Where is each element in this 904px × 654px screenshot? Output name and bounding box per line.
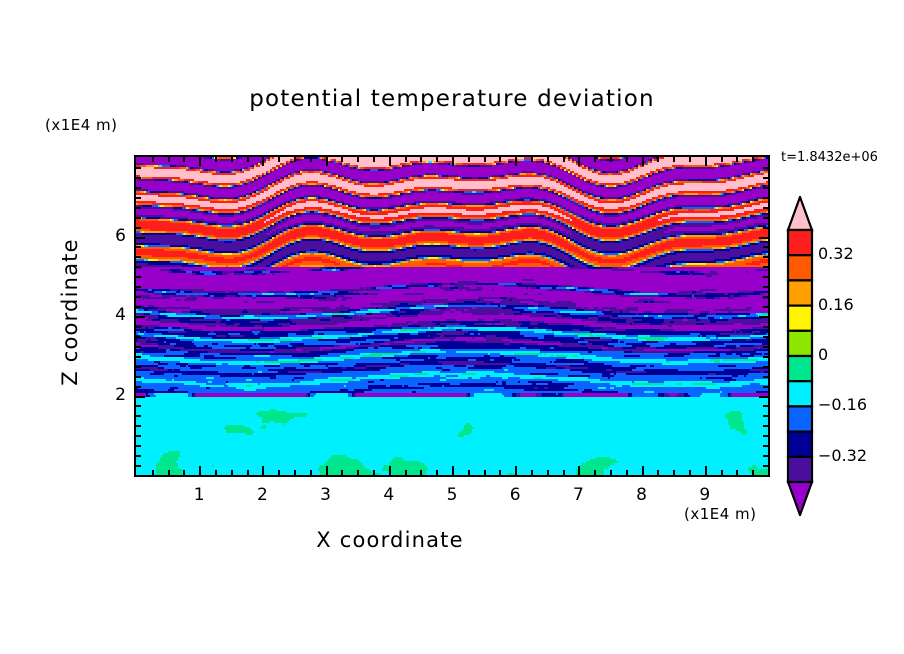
axis-tick <box>136 356 141 358</box>
axis-tick <box>341 470 343 475</box>
axis-tick <box>278 157 280 162</box>
axis-tick <box>294 470 296 475</box>
axis-tick <box>136 237 145 239</box>
axis-tick <box>278 470 280 475</box>
axis-tick <box>763 435 768 437</box>
axis-tick <box>136 286 141 288</box>
y-axis-title: Z coordinate <box>58 202 82 422</box>
axis-tick <box>759 316 768 318</box>
axis-tick <box>199 157 201 166</box>
axis-tick <box>689 470 691 475</box>
axis-tick <box>531 157 533 162</box>
axis-tick <box>763 197 768 199</box>
axis-tick <box>136 177 141 179</box>
axis-tick <box>626 470 628 475</box>
axis-tick <box>199 466 201 475</box>
axis-tick <box>452 466 454 475</box>
axis-tick <box>763 266 768 268</box>
axis-tick <box>420 470 422 475</box>
axis-tick <box>389 157 391 166</box>
axis-tick <box>763 217 768 219</box>
axis-tick <box>436 157 438 162</box>
axis-tick <box>326 466 328 475</box>
axis-tick <box>763 336 768 338</box>
axis-tick <box>642 466 644 475</box>
axis-tick <box>247 157 249 162</box>
axis-tick <box>763 356 768 358</box>
figure-root: potential temperature deviation (x1E4 m)… <box>0 0 904 654</box>
axis-tick <box>310 157 312 162</box>
axis-tick <box>136 455 141 457</box>
axis-tick <box>452 157 454 166</box>
axis-tick <box>763 376 768 378</box>
axis-tick <box>763 455 768 457</box>
axis-tick <box>689 157 691 162</box>
axis-tick <box>389 466 391 475</box>
axis-tick <box>468 470 470 475</box>
axis-tick <box>763 286 768 288</box>
axis-tick <box>405 470 407 475</box>
axis-tick <box>136 336 141 338</box>
axis-tick <box>231 470 233 475</box>
x-axis-title: X coordinate <box>0 528 780 552</box>
axis-tick <box>215 470 217 475</box>
axis-tick <box>326 157 328 166</box>
axis-tick <box>183 157 185 162</box>
axis-tick <box>594 470 596 475</box>
axis-tick <box>594 157 596 162</box>
axis-tick <box>136 386 141 388</box>
axis-tick <box>721 470 723 475</box>
axis-tick <box>136 425 141 427</box>
axis-tick <box>373 470 375 475</box>
axis-tick <box>763 405 768 407</box>
axis-tick <box>515 466 517 475</box>
x-tick-label: 9 <box>690 485 720 505</box>
contour-field <box>136 157 768 475</box>
x-tick-label: 6 <box>500 485 530 505</box>
axis-tick <box>610 157 612 162</box>
axis-tick <box>136 366 141 368</box>
axis-tick <box>721 157 723 162</box>
x-tick-label: 3 <box>311 485 341 505</box>
axis-tick <box>763 326 768 328</box>
y-tick-label: 2 <box>96 385 126 405</box>
axis-tick <box>136 197 141 199</box>
x-tick-label: 2 <box>247 485 277 505</box>
axis-tick <box>136 306 141 308</box>
axis-tick <box>547 157 549 162</box>
axis-tick <box>763 346 768 348</box>
axis-tick <box>763 207 768 209</box>
axis-tick <box>168 470 170 475</box>
page-title: potential temperature deviation <box>0 86 904 112</box>
colorbar-tick-label: 0.16 <box>818 295 854 314</box>
axis-tick <box>763 445 768 447</box>
axis-tick <box>752 157 754 162</box>
colorbar-tick-label: −0.16 <box>818 395 867 414</box>
axis-tick <box>136 187 141 189</box>
axis-tick <box>563 157 565 162</box>
axis-tick <box>136 316 145 318</box>
axis-tick <box>673 470 675 475</box>
axis-tick <box>484 157 486 162</box>
axis-tick <box>763 276 768 278</box>
axis-tick <box>215 157 217 162</box>
axis-tick <box>578 466 580 475</box>
axis-tick <box>405 157 407 162</box>
axis-tick <box>136 256 141 258</box>
axis-tick <box>357 157 359 162</box>
axis-tick <box>152 157 154 162</box>
axis-tick <box>763 246 768 248</box>
axis-tick <box>341 157 343 162</box>
x-tick-label: 8 <box>627 485 657 505</box>
axis-tick <box>373 157 375 162</box>
axis-tick <box>262 157 264 166</box>
axis-tick <box>136 266 141 268</box>
x-tick-label: 7 <box>563 485 593 505</box>
axis-tick <box>763 167 768 169</box>
axis-tick <box>247 470 249 475</box>
axis-tick <box>357 470 359 475</box>
axis-tick <box>183 470 185 475</box>
axis-tick <box>763 306 768 308</box>
axis-tick <box>231 157 233 162</box>
time-annotation: t=1.8432e+06 <box>781 150 878 165</box>
axis-tick <box>499 470 501 475</box>
axis-tick <box>673 157 675 162</box>
x-tick-label: 5 <box>437 485 467 505</box>
axis-tick <box>310 470 312 475</box>
axis-tick <box>136 346 141 348</box>
axis-tick <box>499 157 501 162</box>
axis-tick <box>531 470 533 475</box>
axis-tick <box>705 157 707 166</box>
axis-tick <box>136 435 141 437</box>
x-axis-unit-label: (x1E4 m) <box>684 505 757 523</box>
colorbar-tick-label: 0.32 <box>818 244 854 263</box>
axis-tick <box>136 405 141 407</box>
axis-tick <box>763 415 768 417</box>
axis-tick <box>294 157 296 162</box>
axis-tick <box>136 276 141 278</box>
axis-tick <box>547 470 549 475</box>
axis-tick <box>136 217 141 219</box>
axis-tick <box>578 157 580 166</box>
axis-tick <box>484 470 486 475</box>
axis-tick <box>763 256 768 258</box>
axis-tick <box>763 296 768 298</box>
axis-tick <box>152 470 154 475</box>
axis-tick <box>657 470 659 475</box>
axis-tick <box>168 157 170 162</box>
axis-tick <box>763 425 768 427</box>
axis-tick <box>626 157 628 162</box>
axis-tick <box>136 415 141 417</box>
axis-tick <box>436 470 438 475</box>
plot-area[interactable] <box>134 155 770 477</box>
axis-tick <box>136 376 141 378</box>
axis-tick <box>136 326 141 328</box>
axis-tick <box>657 157 659 162</box>
axis-tick <box>468 157 470 162</box>
axis-tick <box>763 465 768 467</box>
axis-tick <box>563 470 565 475</box>
axis-tick <box>759 237 768 239</box>
axis-tick <box>759 396 768 398</box>
x-tick-label: 1 <box>184 485 214 505</box>
axis-tick <box>705 466 707 475</box>
y-tick-label: 4 <box>96 305 126 325</box>
axis-tick <box>515 157 517 166</box>
colorbar[interactable] <box>786 196 814 516</box>
axis-tick <box>420 157 422 162</box>
axis-tick <box>763 177 768 179</box>
axis-tick <box>736 157 738 162</box>
axis-tick <box>262 466 264 475</box>
axis-tick <box>610 470 612 475</box>
axis-tick <box>763 227 768 229</box>
axis-tick <box>752 470 754 475</box>
axis-tick <box>136 445 141 447</box>
axis-tick <box>763 187 768 189</box>
colorbar-gradient <box>786 196 814 516</box>
y-axis-unit-label: (x1E4 m) <box>45 116 118 134</box>
axis-tick <box>136 246 141 248</box>
axis-tick <box>642 157 644 166</box>
axis-tick <box>136 227 141 229</box>
axis-tick <box>136 167 141 169</box>
axis-tick <box>136 207 141 209</box>
x-tick-label: 4 <box>374 485 404 505</box>
axis-tick <box>136 396 145 398</box>
axis-tick <box>736 470 738 475</box>
colorbar-tick-label: 0 <box>818 345 828 364</box>
axis-tick <box>136 465 141 467</box>
axis-tick <box>763 386 768 388</box>
y-tick-label: 6 <box>96 226 126 246</box>
axis-tick <box>136 296 141 298</box>
axis-tick <box>763 366 768 368</box>
colorbar-tick-label: −0.32 <box>818 446 867 465</box>
